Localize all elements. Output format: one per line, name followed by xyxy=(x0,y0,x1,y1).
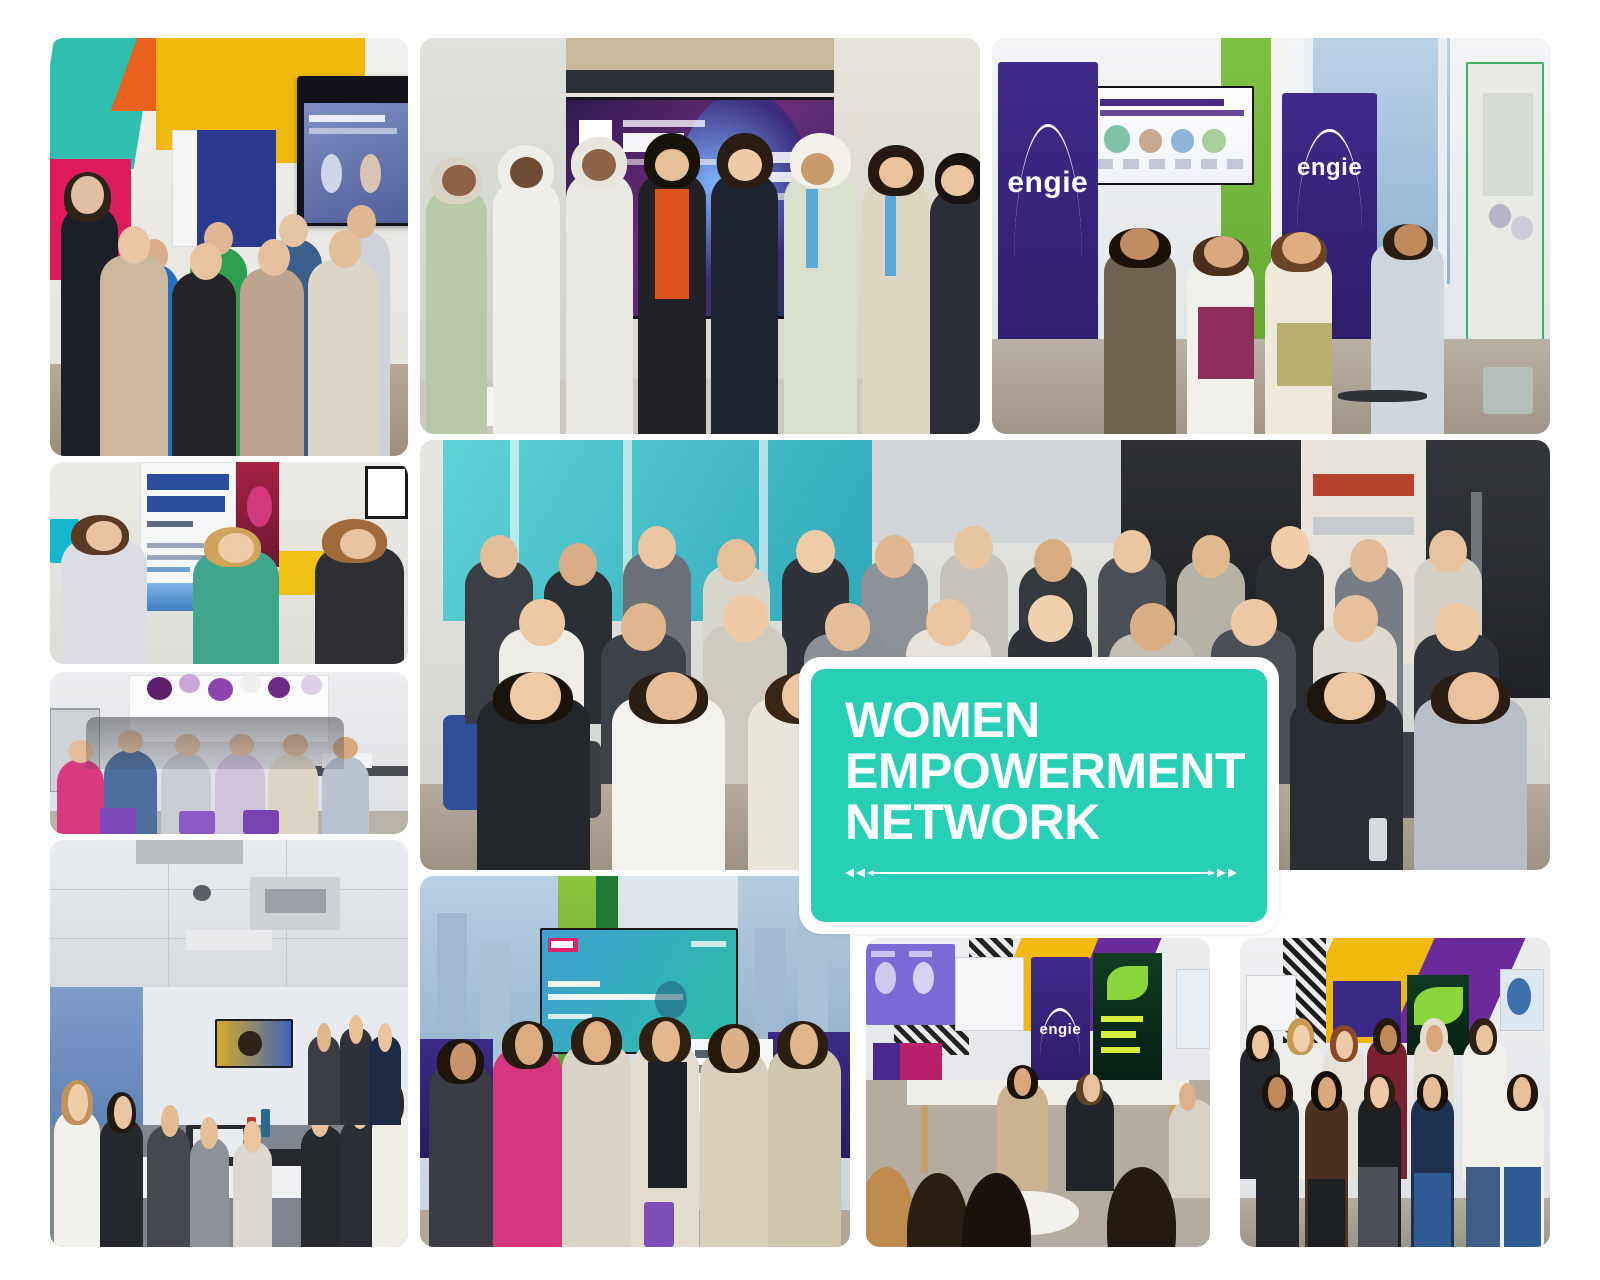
decorative-divider xyxy=(845,866,1237,880)
photo-factory-asia-pacific: Three women seated in front of a Factory… xyxy=(50,462,408,664)
divider-arrow-right-icon xyxy=(1193,867,1237,879)
title-card-inner: WOMEN EMPOWERMENT NETWORK xyxy=(811,669,1267,922)
photo-leadership-talk-2025: Six women standing in front of a present… xyxy=(420,876,850,1247)
photo-collage: Group of women posing with peace signs i… xyxy=(0,0,1600,1280)
divider-arrow-left-icon xyxy=(845,867,889,879)
screen-text-lunch: LUNCH WITH LEADERS xyxy=(0,0,1,1)
photo-lunch-with-leaders: Group of women posing with peace signs i… xyxy=(50,38,408,456)
divider-rule xyxy=(869,872,1214,874)
women-empowerment-network-card: WOMEN EMPOWERMENT NETWORK xyxy=(799,657,1279,934)
photo-team-group-balloons: Large mixed team group photo in a room d… xyxy=(50,672,408,834)
photo-roundtable-discussion: engie xyxy=(866,938,1210,1247)
page-title: WOMEN EMPOWERMENT NETWORK xyxy=(845,695,1237,848)
photo-empowering-change-panel: engie engie xyxy=(992,38,1550,434)
photo-group-colourful-wall: Group of women posing with heart hand ge… xyxy=(1240,938,1550,1247)
photo-meeting-room-lunch: Team seated around a long table with lap… xyxy=(50,840,408,1247)
embedded-text-index: LUNCH WITH LEADERS EMPOWERING WOMEN AT E… xyxy=(0,0,1,1)
photo-wen-womens-health-talk: Seven women standing in a meeting room i… xyxy=(420,38,980,434)
